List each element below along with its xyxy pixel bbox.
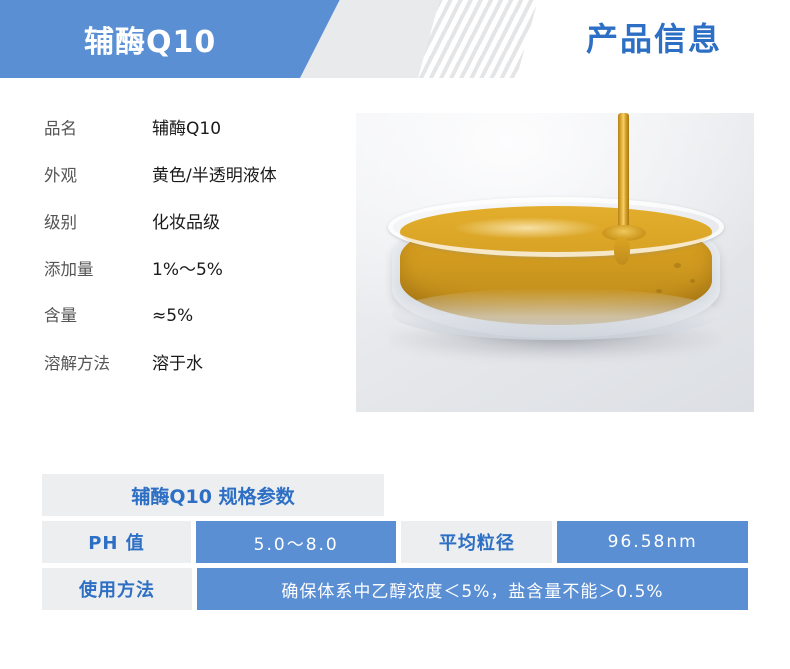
spec-table: 辅酶Q10 规格参数 PH 值 5.0～8.0 平均粒径 96.58nm 使用方… [42, 474, 748, 610]
usage-method-value-cell: 确保体系中乙醇浓度＜5%，盐含量不能＞0.5% [197, 568, 748, 610]
spec-row: 溶解方法 溶于水 [44, 349, 344, 396]
particle-size-value-cell: 96.58nm [557, 521, 748, 563]
spec-value: 辅酶Q10 [152, 114, 221, 139]
spec-label: 溶解方法 [44, 350, 152, 374]
spec-value: 溶于水 [152, 349, 203, 374]
spec-label: 品名 [44, 115, 152, 139]
spec-row: 级别 化妆品级 [44, 208, 344, 255]
spec-row: 外观 黄色/半透明液体 [44, 161, 344, 208]
ph-value-cell: 5.0～8.0 [196, 521, 397, 563]
spec-table-title: 辅酶Q10 规格参数 [42, 474, 384, 516]
particle-size-label-cell: 平均粒径 [401, 521, 552, 563]
spec-label: 添加量 [44, 256, 152, 280]
product-photo [356, 113, 754, 412]
spec-table-row: 使用方法 确保体系中乙醇浓度＜5%，盐含量不能＞0.5% [42, 568, 748, 610]
usage-method-label-cell: 使用方法 [42, 568, 192, 610]
spec-value: ≈5% [152, 306, 193, 326]
liquid-bubble [656, 289, 662, 293]
page-header: 辅酶Q10 产品信息 [0, 0, 790, 78]
liquid-bubble [674, 263, 681, 268]
spec-value: 化妆品级 [152, 208, 220, 233]
product-info-page: 辅酶Q10 产品信息 品名 辅酶Q10 外观 黄色/半透明液体 级别 化妆品级 … [0, 0, 790, 669]
petri-dish-rim [388, 197, 724, 257]
spec-value: 黄色/半透明液体 [152, 161, 277, 186]
spec-list: 品名 辅酶Q10 外观 黄色/半透明液体 级别 化妆品级 添加量 1%～5% 含… [44, 114, 344, 396]
spec-label: 外观 [44, 162, 152, 186]
dish-front-edge [392, 288, 720, 340]
main-content: 品名 辅酶Q10 外观 黄色/半透明液体 级别 化妆品级 添加量 1%～5% 含… [0, 78, 790, 458]
spec-row: 添加量 1%～5% [44, 255, 344, 302]
spec-value: 1%～5% [152, 255, 223, 280]
pouring-stream [618, 113, 629, 237]
spec-label: 含量 [44, 302, 152, 326]
page-title: 产品信息 [586, 14, 722, 60]
spec-label: 级别 [44, 209, 152, 233]
spec-table-row: PH 值 5.0～8.0 平均粒径 96.58nm [42, 521, 748, 563]
product-name-title: 辅酶Q10 [84, 17, 216, 61]
spec-row: 含量 ≈5% [44, 302, 344, 349]
liquid-bubble [690, 279, 695, 283]
spec-row: 品名 辅酶Q10 [44, 114, 344, 161]
pour-drip [614, 237, 630, 265]
ph-label-cell: PH 值 [42, 521, 191, 563]
